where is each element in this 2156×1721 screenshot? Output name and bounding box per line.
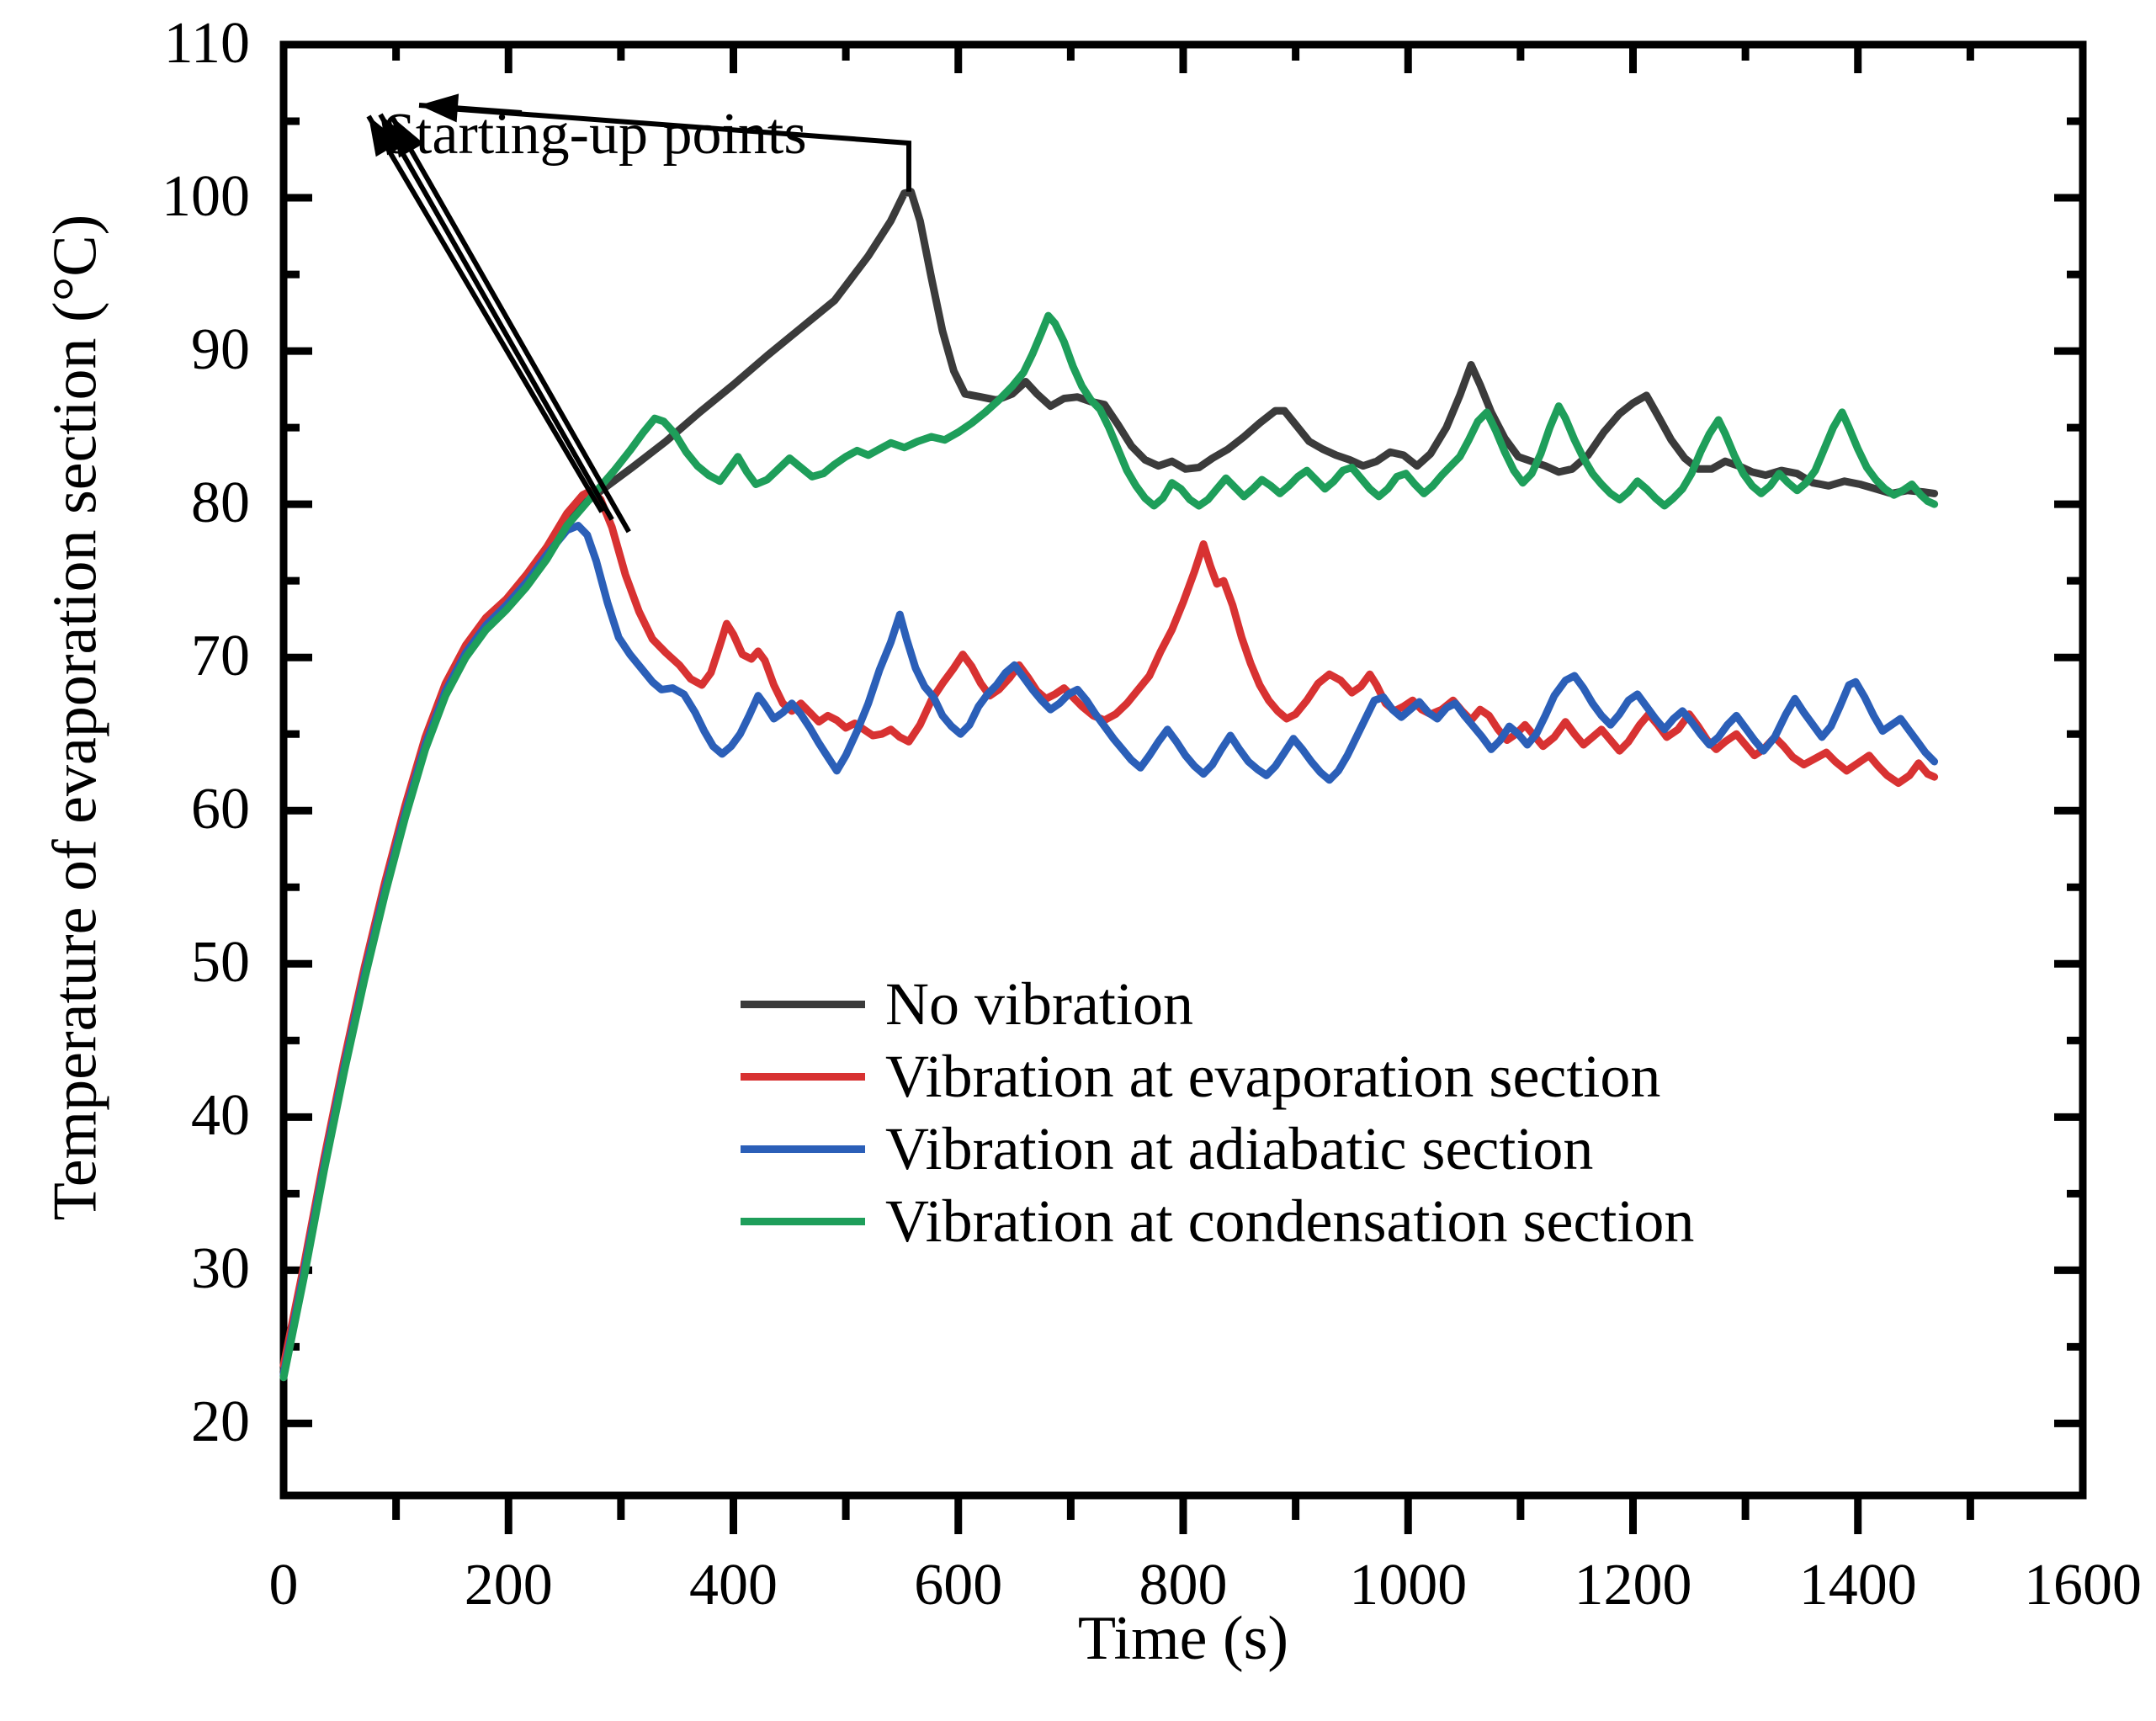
legend-swatch-icon: [741, 1073, 865, 1081]
plot-canvas: [0, 0, 2156, 1721]
chart-legend: No vibrationVibration at evaporation sec…: [741, 968, 1694, 1257]
legend-swatch-icon: [741, 1001, 865, 1008]
x-tick-label: 800: [1057, 1556, 1309, 1615]
x-tick-label: 1000: [1282, 1556, 1534, 1615]
y-tick-label: 50: [31, 933, 250, 992]
y-tick-label: 90: [31, 321, 250, 380]
x-tick-label: 1400: [1732, 1556, 1984, 1615]
y-tick-label: 60: [31, 780, 250, 839]
legend-swatch-icon: [741, 1218, 865, 1225]
legend-item-0[interactable]: No vibration: [741, 968, 1694, 1040]
x-tick-label: 400: [608, 1556, 860, 1615]
y-axis-title: Temperature of evaporation section (°C): [40, 61, 112, 1374]
legend-item-3[interactable]: Vibration at condensation section: [741, 1185, 1694, 1257]
legend-item-2[interactable]: Vibration at adiabatic section: [741, 1113, 1694, 1185]
legend-label: No vibration: [885, 974, 1193, 1034]
y-tick-label: 100: [31, 167, 250, 226]
chart-figure: Temperature of evaporation section (°C) …: [0, 0, 2156, 1721]
x-tick-label: 1600: [1957, 1556, 2156, 1615]
starting-up-points-annotation: Starting-up points: [383, 101, 807, 168]
plot-frame: [284, 45, 2083, 1495]
legend-label: Vibration at condensation section: [885, 1191, 1694, 1251]
y-tick-label: 30: [31, 1240, 250, 1299]
axis-ticks: [284, 45, 2083, 1534]
y-tick-label: 110: [31, 14, 250, 73]
x-tick-label: 0: [157, 1556, 410, 1615]
x-tick-label: 600: [832, 1556, 1085, 1615]
y-tick-label: 80: [31, 474, 250, 533]
legend-label: Vibration at evaporation section: [885, 1046, 1660, 1107]
x-tick-label: 1200: [1507, 1556, 1760, 1615]
y-tick-label: 40: [31, 1086, 250, 1145]
y-tick-label: 20: [31, 1393, 250, 1452]
y-tick-label: 70: [31, 627, 250, 686]
x-tick-label: 200: [382, 1556, 635, 1615]
legend-item-1[interactable]: Vibration at evaporation section: [741, 1040, 1694, 1113]
legend-label: Vibration at adiabatic section: [885, 1118, 1593, 1179]
legend-swatch-icon: [741, 1145, 865, 1153]
